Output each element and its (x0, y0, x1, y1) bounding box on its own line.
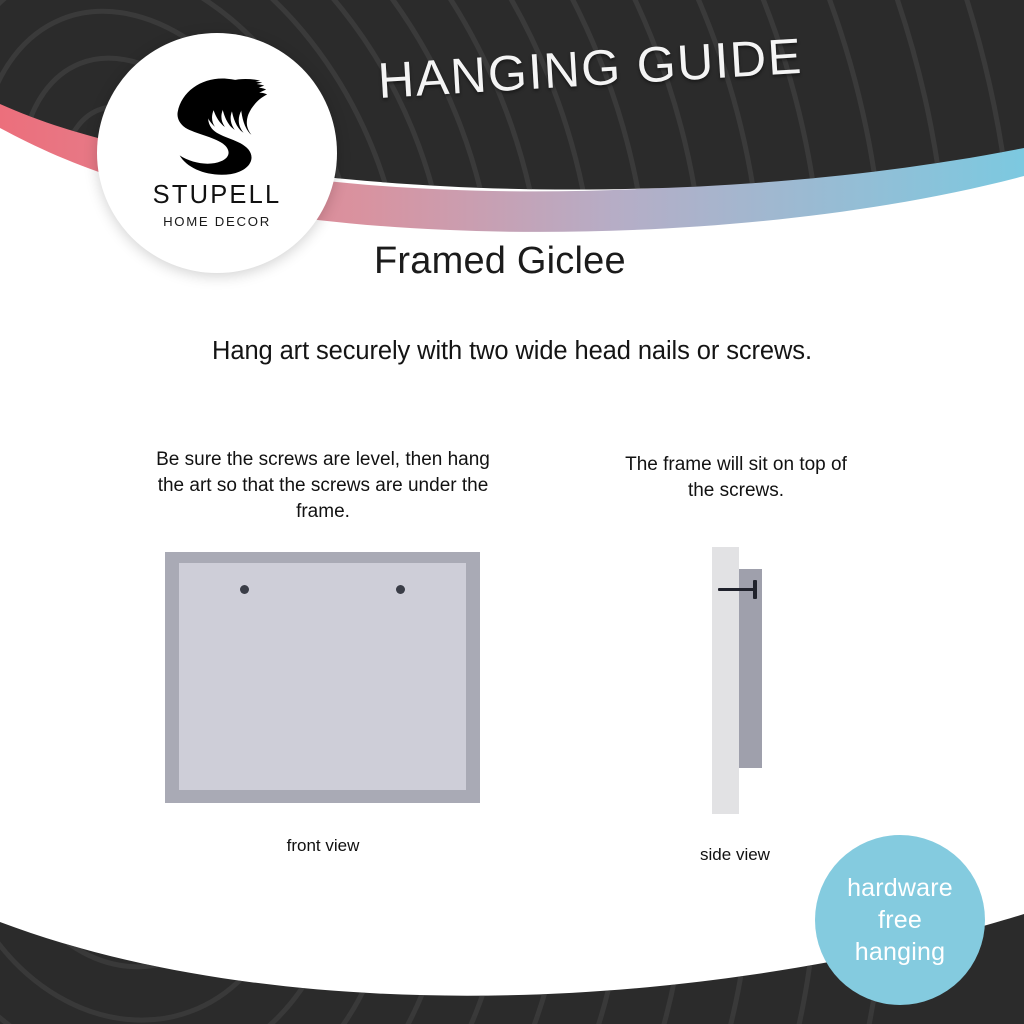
side-view-frame (739, 569, 762, 768)
brand-logo-badge: STUPELL HOME DECOR (97, 33, 337, 273)
hanging-guide-page: STUPELL HOME DECOR HANGING GUIDE Framed … (0, 0, 1024, 1024)
side-view-nail-head (753, 580, 757, 599)
screw-dot-left (240, 585, 249, 594)
side-view-label: side view (655, 845, 815, 865)
brand-subwordmark: HOME DECOR (163, 214, 271, 229)
brand-wordmark: STUPELL (153, 181, 282, 210)
front-view-caption: Be sure the screws are level, then hang … (143, 447, 503, 525)
front-view-frame-diagram (165, 552, 480, 803)
stupell-swoosh-s-logo-icon (158, 61, 276, 179)
product-name: Framed Giclee (374, 240, 626, 283)
hardware-free-hanging-badge: hardware free hanging (815, 835, 985, 1005)
badge-line-1: hardware (847, 872, 953, 904)
page-title: HANGING GUIDE (376, 27, 804, 110)
front-view-label: front view (163, 836, 483, 856)
front-view-mat (179, 563, 466, 790)
screw-dot-right (396, 585, 405, 594)
badge-line-2: free (878, 904, 922, 936)
badge-line-3: hanging (855, 936, 945, 968)
lead-instruction: Hang art securely with two wide head nai… (0, 337, 1024, 366)
side-view-caption: The frame will sit on top of the screws. (612, 452, 860, 504)
side-view-nail-icon (718, 588, 756, 591)
